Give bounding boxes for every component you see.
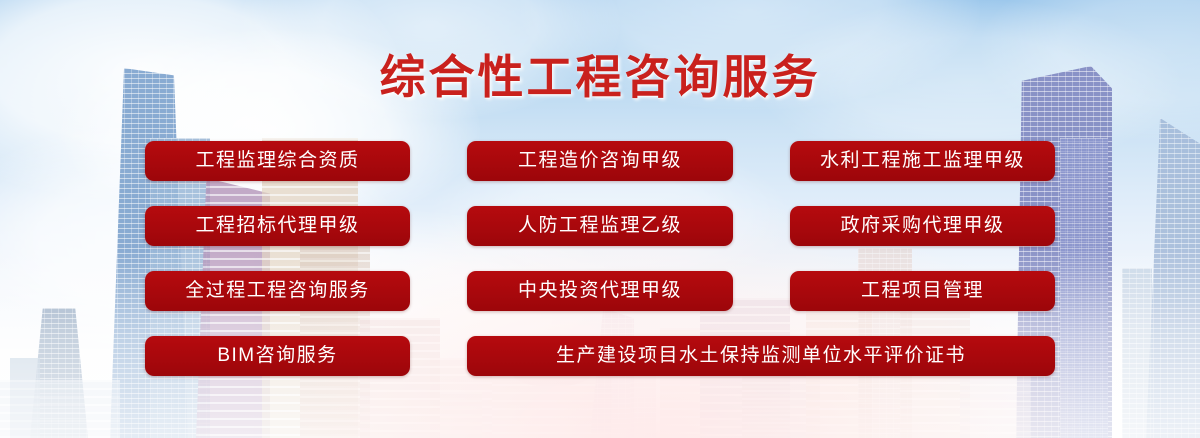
qualification-banner: 综合性工程咨询服务 工程监理综合资质 工程造价咨询甲级 水利工程施工监理甲级 工… bbox=[0, 0, 1200, 438]
qualification-badge-grid: 工程监理综合资质 工程造价咨询甲级 水利工程施工监理甲级 工程招标代理甲级 人防… bbox=[0, 141, 1200, 401]
qualification-badge[interactable]: 工程项目管理 bbox=[790, 271, 1055, 311]
qualification-badge[interactable]: 工程招标代理甲级 bbox=[145, 206, 410, 246]
badge-row: 全过程工程咨询服务 中央投资代理甲级 工程项目管理 bbox=[0, 271, 1200, 336]
qualification-badge[interactable]: 人防工程监理乙级 bbox=[467, 206, 733, 246]
qualification-badge[interactable]: 工程造价咨询甲级 bbox=[467, 141, 733, 181]
qualification-badge[interactable]: 全过程工程咨询服务 bbox=[145, 271, 410, 311]
badge-row: BIM咨询服务 生产建设项目水土保持监测单位水平评价证书 bbox=[0, 336, 1200, 401]
qualification-badge[interactable]: 政府采购代理甲级 bbox=[790, 206, 1055, 246]
badge-row: 工程招标代理甲级 人防工程监理乙级 政府采购代理甲级 bbox=[0, 206, 1200, 271]
qualification-badge[interactable]: 生产建设项目水土保持监测单位水平评价证书 bbox=[467, 336, 1055, 376]
badge-row: 工程监理综合资质 工程造价咨询甲级 水利工程施工监理甲级 bbox=[0, 141, 1200, 206]
qualification-badge[interactable]: 中央投资代理甲级 bbox=[467, 271, 733, 311]
qualification-badge[interactable]: 水利工程施工监理甲级 bbox=[790, 141, 1055, 181]
qualification-badge[interactable]: BIM咨询服务 bbox=[145, 336, 410, 376]
page-title: 综合性工程咨询服务 bbox=[0, 50, 1200, 105]
qualification-badge[interactable]: 工程监理综合资质 bbox=[145, 141, 410, 181]
